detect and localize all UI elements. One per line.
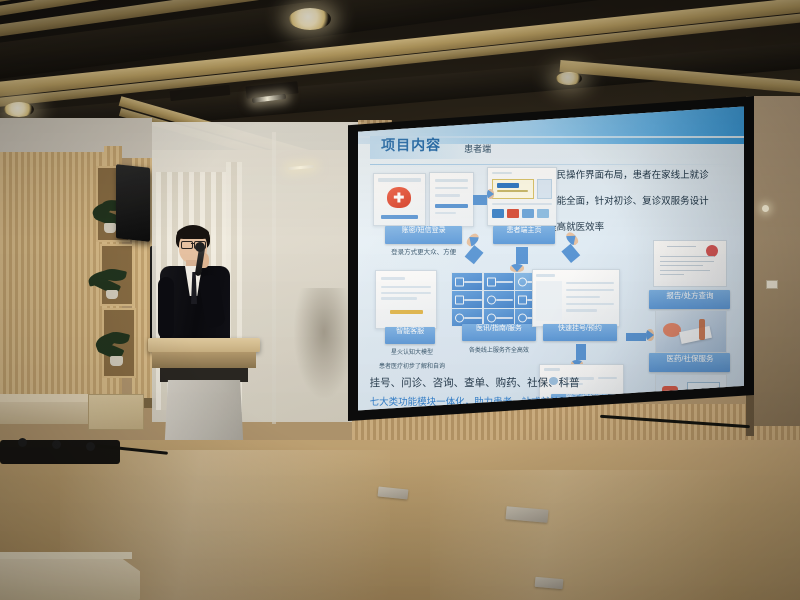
wall-spotlight: [762, 205, 769, 212]
potted-plant: [94, 332, 134, 366]
node-label-report: 报告/处方查询: [649, 290, 730, 308]
projection-screen: 项目内容 患者端 便民操作界面布局，患者在家线上就诊 功能全面，针对初诊、复诊双…: [358, 104, 744, 412]
front-table: [0, 552, 140, 600]
cardboard-box: [88, 394, 144, 430]
wall-switch-plate[interactable]: [766, 280, 778, 289]
mock-smart-service: [375, 270, 437, 329]
slide-title: 项目内容: [381, 135, 441, 155]
flow-arrow-home-to-booking: [561, 244, 580, 263]
flow-arrow-home-to-services: [516, 247, 528, 264]
mock-patient-home: [487, 167, 556, 226]
ceiling-downlight: [289, 8, 331, 30]
node-label-home: 患者端主页: [493, 226, 555, 244]
slide-body-line-1: 便民操作界面布局，患者在家线上就诊: [547, 169, 709, 184]
slide-body-line-2: 功能全面，针对初诊、复诊双服务设计: [547, 195, 709, 210]
glasses-bridge: [191, 243, 194, 244]
front-table-edge: [0, 552, 132, 559]
floor-reflection: [430, 470, 730, 600]
caption-services: 各类线上服务齐全高效: [451, 347, 548, 355]
presentation-room-photo: 项目内容 患者端 便民操作界面布局，患者在家线上就诊 功能全面，针对初诊、复诊双…: [0, 0, 800, 600]
wall-shadow: [294, 288, 354, 398]
right-wall-column: [752, 96, 800, 426]
node-label-kefu: 智能客服: [385, 327, 435, 344]
service-tile[interactable]: [484, 291, 514, 307]
lectern-top: [148, 338, 260, 352]
caption-login: 登录方式更大众、方便: [373, 249, 473, 258]
mock-report-certificate: [653, 240, 726, 288]
node-label-booking: 快速挂号/预约: [543, 324, 616, 341]
presenter-arm-left: [158, 277, 174, 339]
title-divider: [370, 164, 733, 165]
service-tile[interactable]: [452, 291, 482, 307]
service-tile[interactable]: [452, 273, 482, 289]
node-label-insure: 医药/社保服务: [649, 353, 730, 371]
mock-login-phone-b: [429, 172, 473, 227]
lectern-recess: [160, 368, 248, 382]
flow-arrow-login-to-home: [473, 195, 487, 205]
ceiling-downlight: [556, 72, 582, 85]
presenter-hair-fringe: [177, 227, 209, 239]
service-tile[interactable]: [484, 273, 514, 289]
glass-partition-edge: [272, 132, 276, 424]
slide-subtitle: 患者端: [464, 142, 491, 155]
table-caster: [86, 442, 95, 451]
mock-insurance-card: [655, 310, 726, 353]
caption-kefu-1: 星火认知大模型: [366, 349, 459, 357]
presenter: [140, 225, 250, 355]
flow-arrow-to-insure: [626, 333, 645, 341]
microphone-head: [195, 242, 205, 252]
node-label-services: 医讯/指南/服务: [462, 324, 535, 341]
mock-login-phone-a: [373, 173, 425, 225]
slide-footer-primary: 挂号、问诊、咨询、查单、购药、社保、科普: [370, 375, 580, 390]
node-label-login: 账密/短信登录: [385, 226, 462, 244]
table-caster: [52, 440, 61, 449]
slide-content: 项目内容 患者端 便民操作界面布局，患者在家线上就诊 功能全面，针对初诊、复诊双…: [358, 104, 744, 412]
lectern-shelf: [152, 352, 256, 368]
hospital-logo-icon: [387, 187, 410, 207]
potted-plant: [88, 268, 130, 300]
flow-arrow-booking-to-chat: [576, 344, 586, 359]
mock-booking: [532, 269, 621, 328]
ceiling-downlight: [4, 102, 34, 117]
table-caster: [18, 438, 27, 447]
caption-kefu-2: 患者医疗初步了解和自询: [358, 363, 470, 371]
